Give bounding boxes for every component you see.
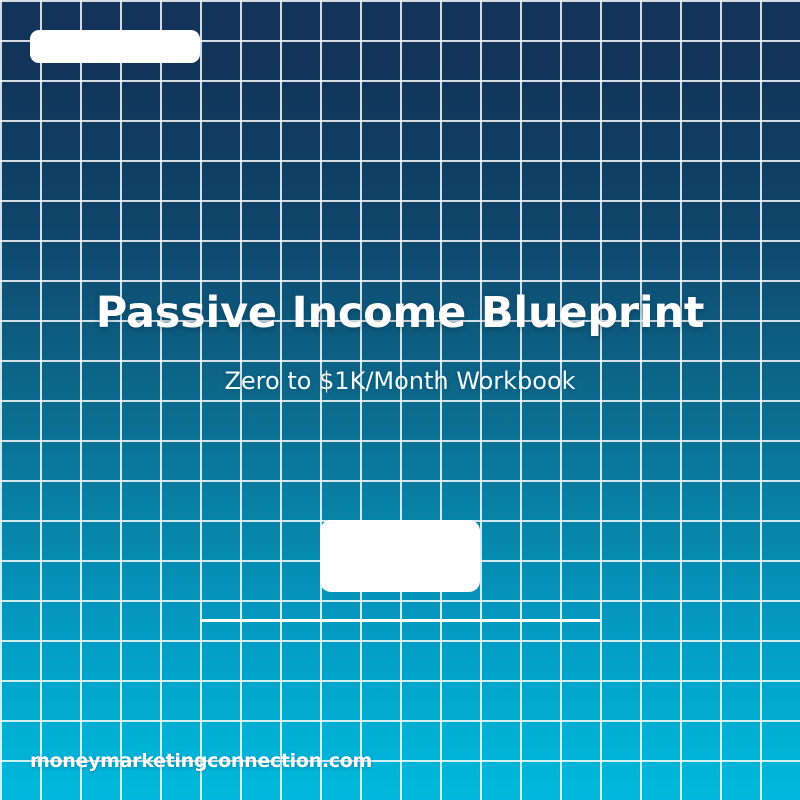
title-block: Passive Income Blueprint Zero to $1K/Mon…: [0, 288, 800, 396]
page-title: Passive Income Blueprint: [0, 288, 800, 339]
cover-canvas: Passive Income Blueprint Zero to $1K/Mon…: [0, 0, 800, 800]
page-subtitle: Zero to $1K/Month Workbook: [0, 367, 800, 396]
grid-pattern-overlay: [0, 0, 800, 800]
footer-watermark: moneymarketingconnection.com: [30, 750, 372, 772]
divider-rule: [200, 619, 600, 622]
center-blank-panel[interactable]: [320, 520, 480, 592]
top-left-blank-badge[interactable]: [30, 30, 200, 63]
